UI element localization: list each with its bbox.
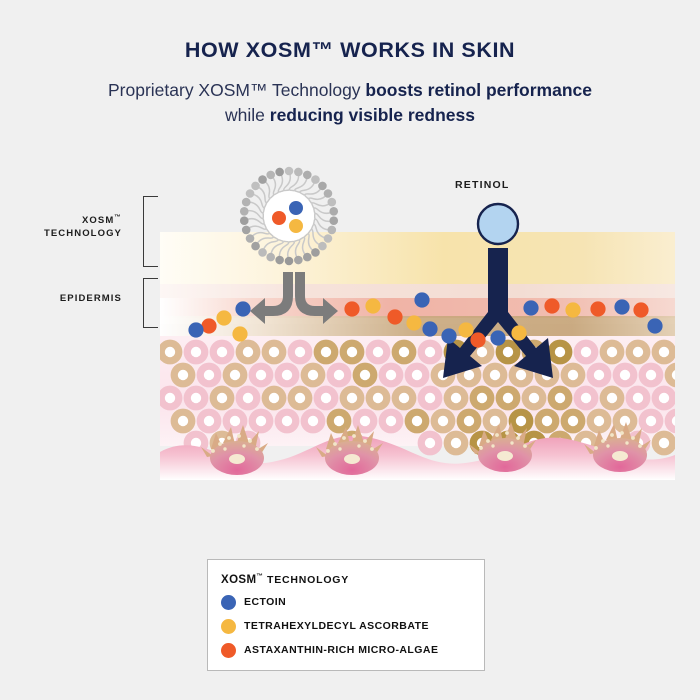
particle-ascorbate-core: [289, 219, 303, 233]
legend-label-ascorbate: TETRAHEXYLDECYL ASCORBATE: [244, 620, 429, 632]
phospholipid-head: [318, 182, 327, 191]
cell-nucleus: [334, 416, 344, 426]
legend-label-ectoin: ECTOIN: [244, 596, 286, 608]
active-ingredient-particle: [441, 328, 456, 343]
cell-nucleus: [191, 347, 201, 357]
legend-item-astaxanthin: ASTAXANTHIN-RICH MICRO-ALGAE: [221, 643, 484, 658]
cell-nucleus: [386, 416, 396, 426]
phospholipid-head: [251, 182, 260, 191]
cell-nucleus: [308, 416, 318, 426]
cell-nucleus: [490, 416, 500, 426]
legend-trademark-symbol: ™: [256, 573, 263, 580]
cell-nucleus: [503, 393, 513, 403]
phospholipid-head: [285, 167, 294, 176]
particle-ectoin-core: [289, 201, 303, 215]
phospholipid-head: [246, 234, 255, 243]
cell-nucleus: [373, 393, 383, 403]
cell-nucleus: [555, 347, 565, 357]
cell-nucleus: [178, 370, 188, 380]
legend-box: XOSM™ TECHNOLOGY ECTOIN TETRAHEXYLDECYL …: [207, 559, 485, 671]
phospholipid-head: [240, 207, 249, 216]
cell-nucleus: [620, 416, 630, 426]
cell-nucleus: [607, 347, 617, 357]
cell-nucleus: [308, 370, 318, 380]
active-ingredient-particle: [422, 321, 437, 336]
cell-nucleus: [490, 370, 500, 380]
cell-nucleus: [503, 347, 513, 357]
cell-nucleus: [594, 370, 604, 380]
active-ingredient-particle: [387, 309, 402, 324]
cell-nucleus: [243, 393, 253, 403]
active-ingredient-particle: [232, 326, 247, 341]
cell-nucleus: [516, 416, 526, 426]
phospholipid-head: [303, 171, 312, 180]
cell-nucleus: [451, 393, 461, 403]
phospholipid-head: [242, 226, 251, 235]
phospholipid-head: [311, 248, 320, 257]
legend-item-ascorbate: TETRAHEXYLDECYL ASCORBATE: [221, 619, 484, 634]
active-ingredient-particle: [216, 310, 231, 325]
cell-nucleus: [256, 370, 266, 380]
phospholipid-head: [294, 256, 303, 265]
active-ingredient-particle: [365, 298, 380, 313]
cell-nucleus: [282, 416, 292, 426]
cell-nucleus: [334, 370, 344, 380]
cell-nucleus: [477, 347, 487, 357]
cell-nucleus: [529, 393, 539, 403]
active-ingredient-particle: [523, 300, 538, 315]
active-ingredient-particle: [188, 322, 203, 337]
cell-nucleus: [659, 347, 669, 357]
cell-nucleus: [542, 416, 552, 426]
cell-nucleus: [399, 347, 409, 357]
cell-nucleus: [607, 393, 617, 403]
active-ingredient-particle: [511, 325, 526, 340]
cell-nucleus: [165, 393, 175, 403]
active-ingredient-particle: [470, 332, 485, 347]
phospholipid-head: [324, 234, 333, 243]
cell-nucleus: [672, 370, 682, 380]
cell-nucleus: [412, 416, 422, 426]
phospholipid-head: [258, 175, 267, 184]
cell-nucleus: [217, 347, 227, 357]
active-ingredient-particle: [490, 330, 505, 345]
active-ingredient-particle: [235, 301, 250, 316]
phospholipid-head: [246, 189, 255, 198]
active-ingredient-particle: [414, 292, 429, 307]
cell-nucleus: [243, 347, 253, 357]
phospholipid-head: [329, 207, 338, 216]
cell-nucleus: [230, 416, 240, 426]
cell-nucleus: [321, 347, 331, 357]
cell-nucleus: [269, 393, 279, 403]
legend-label-astaxanthin: ASTAXANTHIN-RICH MICRO-ALGAE: [244, 644, 438, 656]
cell-nucleus: [165, 347, 175, 357]
cell-nucleus: [464, 416, 474, 426]
cell-nucleus: [412, 370, 422, 380]
phospholipid-head: [318, 242, 327, 251]
cell-nucleus: [282, 370, 292, 380]
cell-nucleus: [581, 393, 591, 403]
cell-nucleus: [321, 393, 331, 403]
cell-nucleus: [399, 393, 409, 403]
cell-nucleus: [633, 347, 643, 357]
cell-nucleus: [425, 438, 435, 448]
cell-nucleus: [516, 370, 526, 380]
cell-nucleus: [204, 370, 214, 380]
cell-nucleus: [295, 393, 305, 403]
cell-nucleus: [425, 393, 435, 403]
cell-nucleus: [646, 416, 656, 426]
cell-nucleus: [464, 370, 474, 380]
legend-title-rest: TECHNOLOGY: [267, 574, 349, 586]
cell-nucleus: [438, 416, 448, 426]
cell-nucleus: [230, 370, 240, 380]
retinol-label: RETINOL: [455, 179, 509, 191]
phospholipid-head: [329, 216, 338, 225]
cell-nucleus: [360, 370, 370, 380]
cell-nucleus: [269, 347, 279, 357]
liposome-core: [264, 191, 314, 241]
cell-nucleus: [178, 416, 188, 426]
phospholipid-head: [294, 168, 303, 177]
cell-nucleus: [204, 416, 214, 426]
cell-nucleus: [386, 370, 396, 380]
cell-nucleus: [672, 416, 682, 426]
legend-swatch-astaxanthin: [221, 643, 236, 658]
keratinocyte-cell: [665, 409, 690, 434]
phospholipid-head: [275, 256, 284, 265]
phospholipid-head: [327, 226, 336, 235]
cell-nucleus: [217, 393, 227, 403]
cell-nucleus: [256, 416, 266, 426]
phospholipid-head: [242, 198, 251, 207]
phospholipid-head: [251, 242, 260, 251]
phospholipid-head: [327, 198, 336, 207]
cell-nucleus: [477, 393, 487, 403]
cell-nucleus: [646, 370, 656, 380]
phospholipid-head: [258, 248, 267, 257]
keratinocyte-cell: [665, 363, 690, 388]
legend-item-ectoin: ECTOIN: [221, 595, 484, 610]
cell-nucleus: [425, 347, 435, 357]
active-ingredient-particle: [633, 302, 648, 317]
phospholipid-head: [266, 171, 275, 180]
active-ingredient-particle: [406, 315, 421, 330]
cell-nucleus: [659, 438, 669, 448]
legend-swatch-ascorbate: [221, 619, 236, 634]
cell-nucleus: [360, 416, 370, 426]
phospholipid-head: [285, 257, 294, 266]
cell-nucleus: [347, 393, 357, 403]
legend-title-main: XOSM: [221, 574, 256, 586]
cell-nucleus: [373, 347, 383, 357]
active-ingredient-particle: [565, 302, 580, 317]
layer-stratum-corneum: [160, 232, 675, 284]
cell-nucleus: [191, 393, 201, 403]
cell-nucleus: [620, 370, 630, 380]
legend-swatch-ectoin: [221, 595, 236, 610]
active-ingredient-particle: [647, 318, 662, 333]
particle-astaxanthin-core: [272, 211, 286, 225]
retinol-molecule-circle: [478, 204, 518, 244]
phospholipid-head: [275, 168, 284, 177]
legend-title: XOSM™ TECHNOLOGY: [221, 573, 484, 586]
phospholipid-head: [324, 189, 333, 198]
cell-nucleus: [555, 393, 565, 403]
cell-nucleus: [347, 347, 357, 357]
active-ingredient-particle: [344, 301, 359, 316]
phospholipid-head: [266, 253, 275, 262]
active-ingredient-particle: [544, 298, 559, 313]
infographic-canvas: HOW XOSM™ WORKS IN SKIN Proprietary XOSM…: [0, 0, 700, 700]
cell-nucleus: [568, 370, 578, 380]
phospholipid-head: [311, 175, 320, 184]
active-ingredient-particle: [201, 318, 216, 333]
cell-nucleus: [568, 416, 578, 426]
phospholipid-head: [303, 253, 312, 262]
cell-nucleus: [581, 347, 591, 357]
cell-nucleus: [594, 416, 604, 426]
cell-nucleus: [295, 347, 305, 357]
phospholipid-head: [240, 216, 249, 225]
active-ingredient-particle: [590, 301, 605, 316]
active-ingredient-particle: [458, 322, 473, 337]
active-ingredient-particle: [614, 299, 629, 314]
cell-nucleus: [451, 438, 461, 448]
cell-nucleus: [659, 393, 669, 403]
cell-nucleus: [633, 393, 643, 403]
